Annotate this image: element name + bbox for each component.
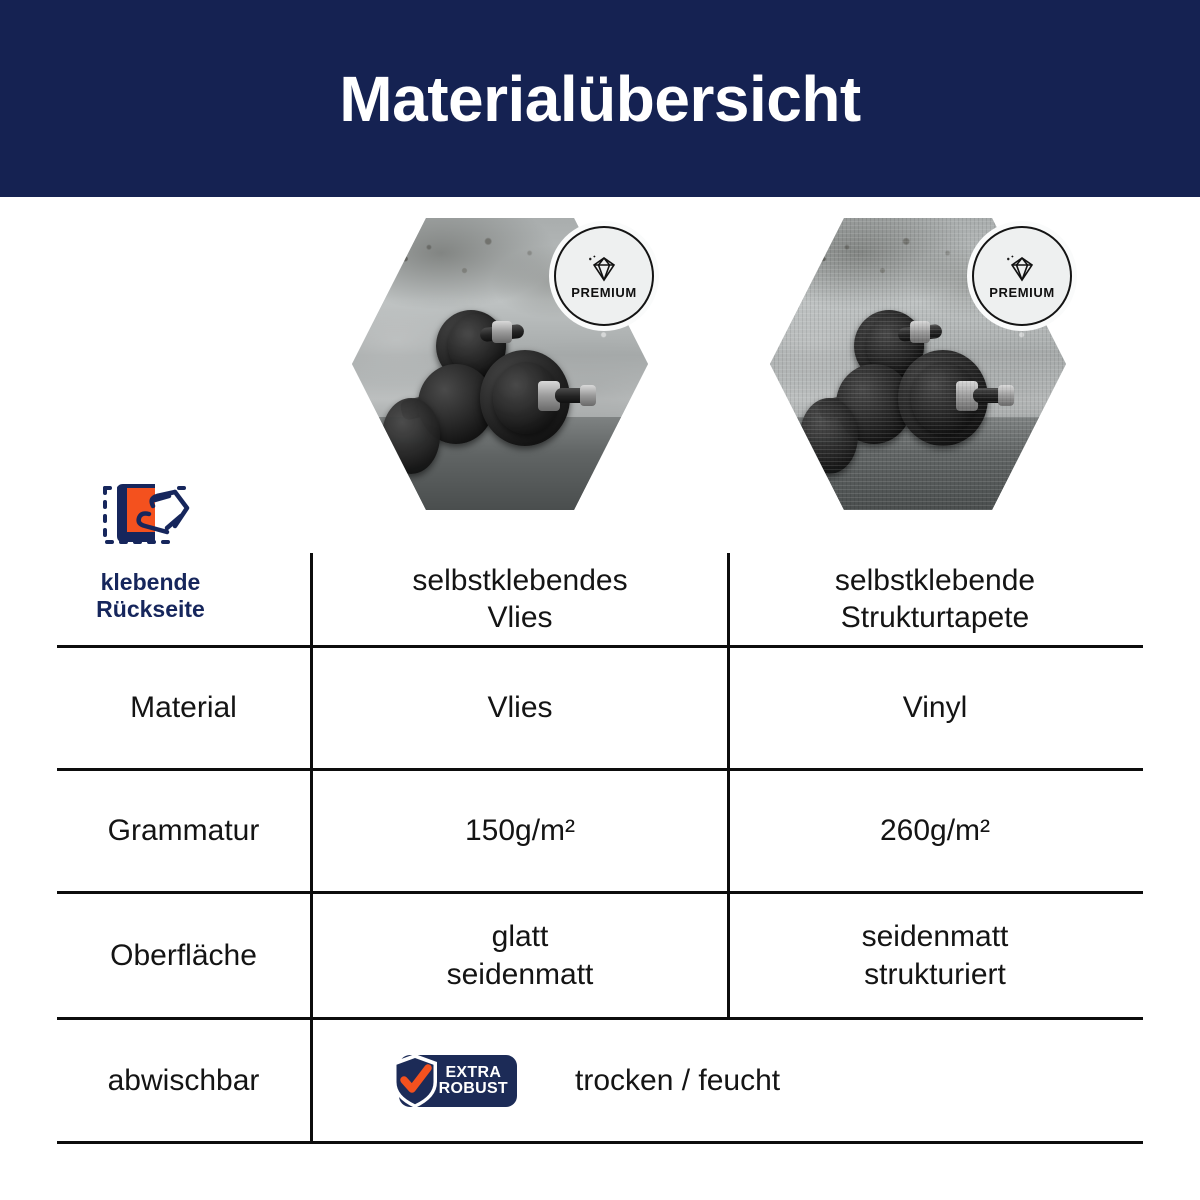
table-row: Material Vlies Vinyl	[57, 645, 1143, 768]
product-image-1: PREMIUM	[352, 218, 648, 510]
row-value-oberflaeche-a-line1: glatt	[447, 918, 594, 955]
row-value-abwischbar-text: trocken / feucht	[575, 1062, 780, 1099]
product-image-2: PREMIUM	[770, 218, 1066, 510]
row-value-grammatur-b: 260g/m²	[727, 771, 1140, 891]
table-row: Oberfläche glatt seidenmatt seidenmatt s…	[57, 891, 1143, 1017]
peeling-adhesive-backing-icon	[91, 470, 211, 563]
diamond-icon	[584, 254, 624, 284]
extra-robust-line1: EXTRA	[445, 1065, 501, 1081]
premium-badge: PREMIUM	[554, 226, 654, 326]
table-row: Grammatur 150g/m² 260g/m²	[57, 768, 1143, 891]
row-label-grammatur: Grammatur	[57, 771, 310, 891]
table-header-col-b-line1: selbstklebende	[835, 562, 1035, 599]
table-header-col-a-line2: Vlies	[412, 599, 627, 636]
extra-robust-badge-text: EXTRA ROBUST	[439, 1065, 508, 1097]
extra-robust-badge: EXTRA ROBUST	[399, 1055, 517, 1107]
premium-badge-label: PREMIUM	[571, 286, 637, 299]
premium-badge: PREMIUM	[972, 226, 1072, 326]
row-value-oberflaeche-b: seidenmatt strukturiert	[727, 894, 1140, 1017]
shield-check-icon	[389, 1051, 441, 1120]
row-value-oberflaeche-b-line1: seidenmatt	[862, 918, 1009, 955]
diamond-icon	[1002, 254, 1042, 284]
row-value-oberflaeche-b-line2: strukturiert	[862, 956, 1009, 993]
table-row: abwischbar EXTRA ROBUST	[57, 1017, 1143, 1144]
table-header-col-b: selbstklebende Strukturtapete	[727, 553, 1140, 645]
material-comparison-table: selbstklebendes Vlies selbstklebende Str…	[57, 553, 1143, 1144]
row-value-oberflaeche-a: glatt seidenmatt	[310, 894, 727, 1017]
row-value-abwischbar: EXTRA ROBUST trocken / feucht	[310, 1020, 1140, 1141]
premium-badge-label: PREMIUM	[989, 286, 1055, 299]
row-value-grammatur-a: 150g/m²	[310, 771, 727, 891]
table-header-label-cell	[57, 553, 310, 645]
table-header-col-a: selbstklebendes Vlies	[310, 553, 727, 645]
row-value-material-vlies: Vlies	[310, 648, 727, 768]
table-header-row: selbstklebendes Vlies selbstklebende Str…	[57, 553, 1143, 645]
extra-robust-line2: ROBUST	[439, 1081, 508, 1097]
page-title: Materialübersicht	[339, 67, 860, 131]
row-label-material: Material	[57, 648, 310, 768]
table-header-col-b-line2: Strukturtapete	[835, 599, 1035, 636]
row-label-oberflaeche: Oberfläche	[57, 894, 310, 1017]
row-value-material-vinyl: Vinyl	[727, 648, 1140, 768]
table-header-col-a-line1: selbstklebendes	[412, 562, 627, 599]
row-value-oberflaeche-a-line2: seidenmatt	[447, 956, 594, 993]
row-label-abwischbar: abwischbar	[57, 1020, 310, 1141]
page-header: Materialübersicht	[0, 0, 1200, 197]
